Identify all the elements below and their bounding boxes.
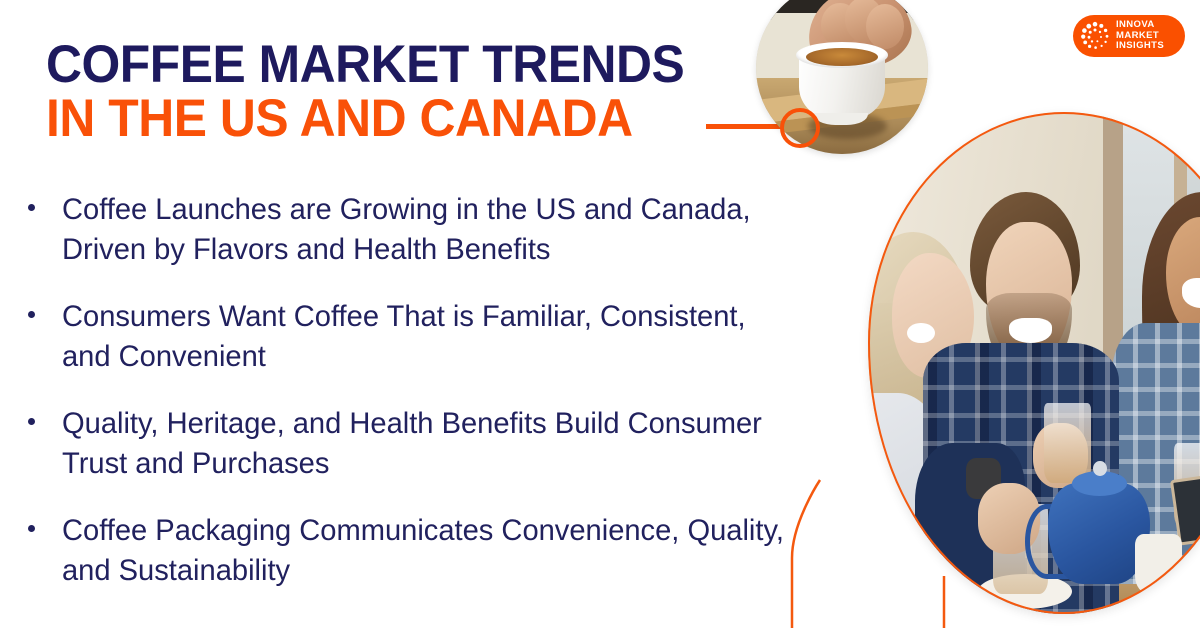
- orange-ring-accent-icon: [780, 108, 820, 148]
- bullet-point-icon: [28, 511, 62, 532]
- list-item-label: Coffee Launches are Growing in the US an…: [62, 190, 799, 270]
- bullet-point-icon: [28, 190, 62, 211]
- list-item: Consumers Want Coffee That is Familiar, …: [28, 297, 828, 377]
- orange-connector-lines: [780, 480, 980, 628]
- title-line-primary: COFFEE MARKET TRENDS: [46, 38, 723, 92]
- bullet-point-icon: [28, 404, 62, 425]
- list-item: Quality, Heritage, and Health Benefits B…: [28, 404, 828, 484]
- bullet-point-icon: [28, 297, 62, 318]
- logo-line-3: INSIGHTS: [1116, 41, 1164, 52]
- list-item: Coffee Launches are Growing in the US an…: [28, 190, 828, 270]
- title-line-secondary: IN THE US AND CANADA: [46, 92, 723, 146]
- innova-market-insights-logo: INNOVA MARKET INSIGHTS: [1073, 15, 1185, 57]
- poster-canvas: COFFEE MARKET TRENDS IN THE US AND CANAD…: [0, 0, 1200, 628]
- list-item: Coffee Packaging Communicates Convenienc…: [28, 511, 828, 591]
- page-title: COFFEE MARKET TRENDS IN THE US AND CANAD…: [46, 38, 766, 146]
- logo-wordmark: INNOVA MARKET INSIGHTS: [1116, 20, 1164, 52]
- list-item-label: Consumers Want Coffee That is Familiar, …: [62, 297, 799, 377]
- key-trends-list: Coffee Launches are Growing in the US an…: [28, 190, 828, 618]
- dot-ring-icon: [1080, 21, 1110, 51]
- list-item-label: Coffee Packaging Communicates Convenienc…: [62, 511, 799, 591]
- list-item-label: Quality, Heritage, and Health Benefits B…: [62, 404, 799, 484]
